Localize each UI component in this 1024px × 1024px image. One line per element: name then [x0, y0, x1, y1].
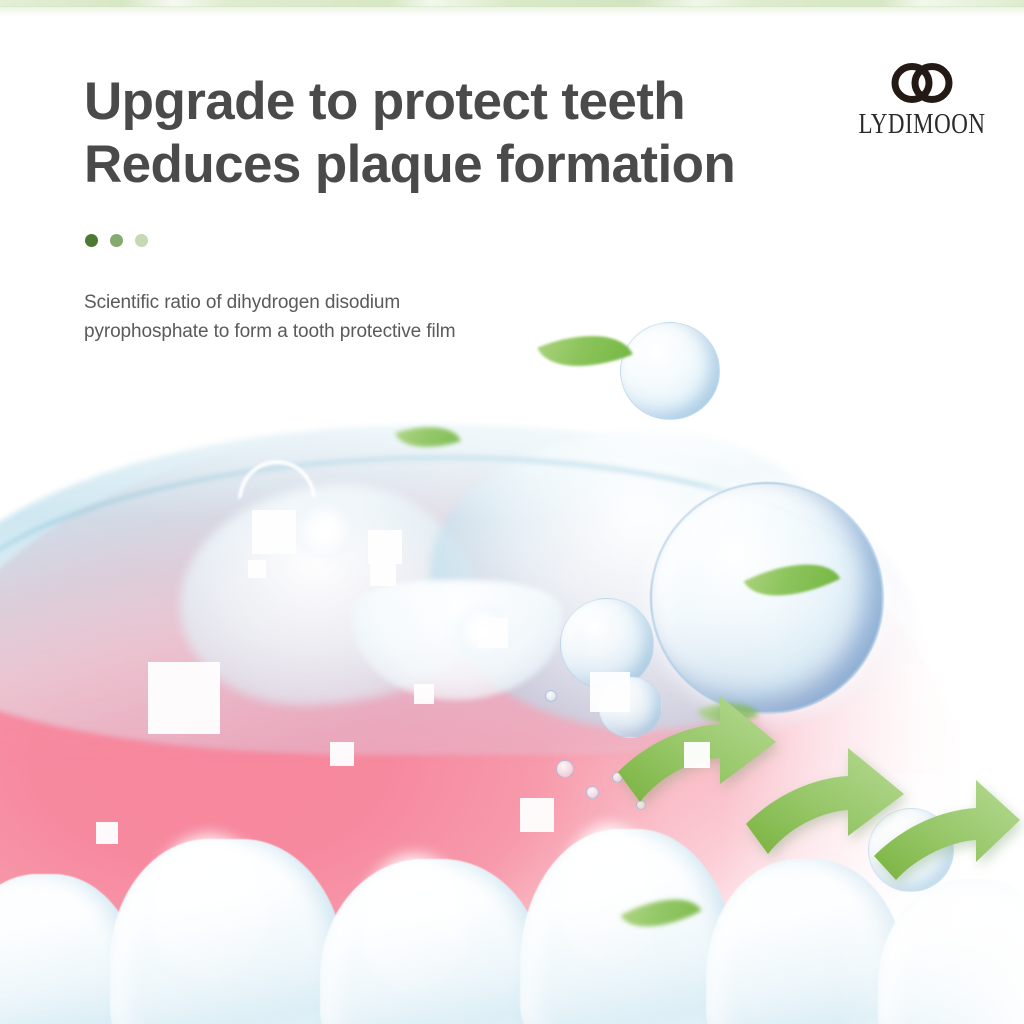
page-title: Upgrade to protect teeth Reduces plaque … — [84, 70, 804, 196]
accent-dot-medium — [110, 234, 123, 247]
accent-dot-dark — [85, 234, 98, 247]
product-banner: Upgrade to protect teeth Reduces plaque … — [0, 0, 1024, 1024]
subtitle-text: Scientific ratio of dihydrogen disodium … — [84, 288, 644, 346]
interlocking-rings-icon — [887, 62, 957, 104]
accent-dots — [85, 234, 148, 247]
accent-dot-light — [135, 234, 148, 247]
banner-content: Upgrade to protect teeth Reduces plaque … — [0, 0, 1024, 1024]
brand-logo: LYDIMOON — [848, 62, 996, 133]
brand-name: LYDIMOON — [848, 110, 996, 138]
